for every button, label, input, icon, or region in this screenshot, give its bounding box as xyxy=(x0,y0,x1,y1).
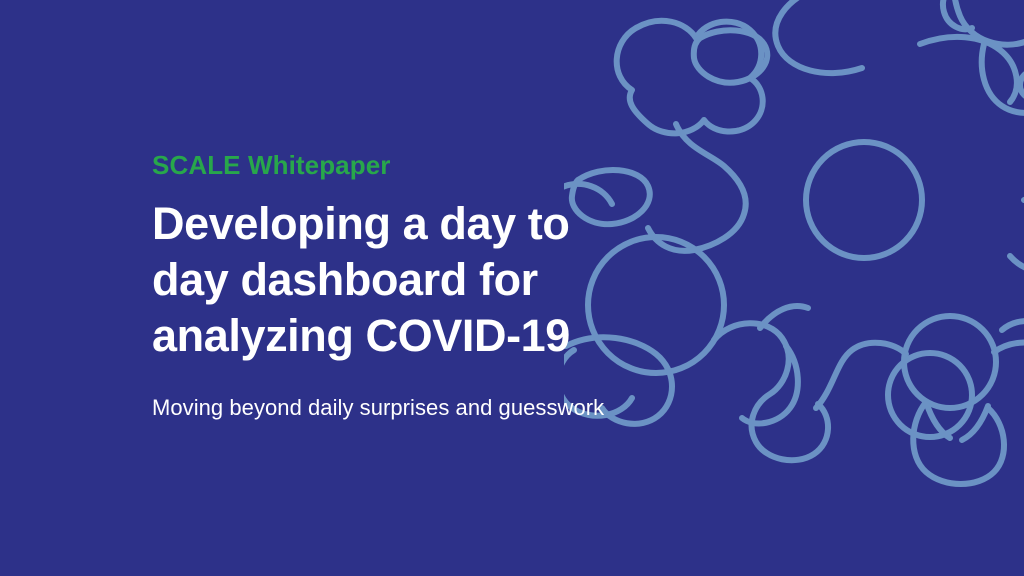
virus-stalk-topright-2 xyxy=(982,44,1024,113)
subtitle: Moving beyond daily surprises and guessw… xyxy=(152,394,672,423)
virus-circle-c xyxy=(888,353,972,437)
virus-spike-inner xyxy=(742,346,798,423)
virus-spike-base-right xyxy=(913,402,1004,484)
headline-line-3: analyzing COVID-19 xyxy=(152,308,672,364)
virus-tendril-b xyxy=(754,0,862,73)
whitepaper-cover-slide: SCALE Whitepaper Developing a day to day… xyxy=(0,0,1024,576)
virus-spike-stem-right-2 xyxy=(962,406,988,440)
virus-hook-b xyxy=(1010,256,1024,272)
eyebrow-label: SCALE Whitepaper xyxy=(152,152,672,179)
virus-circle-d xyxy=(1020,71,1024,99)
virus-blob-topleft xyxy=(617,21,763,134)
virus-spike-arm xyxy=(760,306,808,328)
virus-lens-top xyxy=(694,30,768,82)
virus-stalk-topright xyxy=(920,37,1017,102)
virus-circle-a xyxy=(806,142,922,258)
virus-neck-a xyxy=(816,343,906,408)
cover-text-block: SCALE Whitepaper Developing a day to day… xyxy=(152,152,672,422)
virus-blob-topright xyxy=(954,0,1024,45)
page-title: Developing a day to day dashboard for an… xyxy=(152,196,672,363)
virus-tendril-d xyxy=(994,342,1024,354)
virus-hook-c xyxy=(1002,321,1024,330)
headline-line-2: day dashboard for xyxy=(152,252,672,308)
virus-spike-bottomcenter xyxy=(714,323,828,460)
virus-spike-stem-right xyxy=(926,402,950,438)
headline-line-1: Developing a day to xyxy=(152,196,672,252)
virus-spike-head-right xyxy=(904,316,996,408)
virus-inner-curve-topright xyxy=(943,0,972,29)
